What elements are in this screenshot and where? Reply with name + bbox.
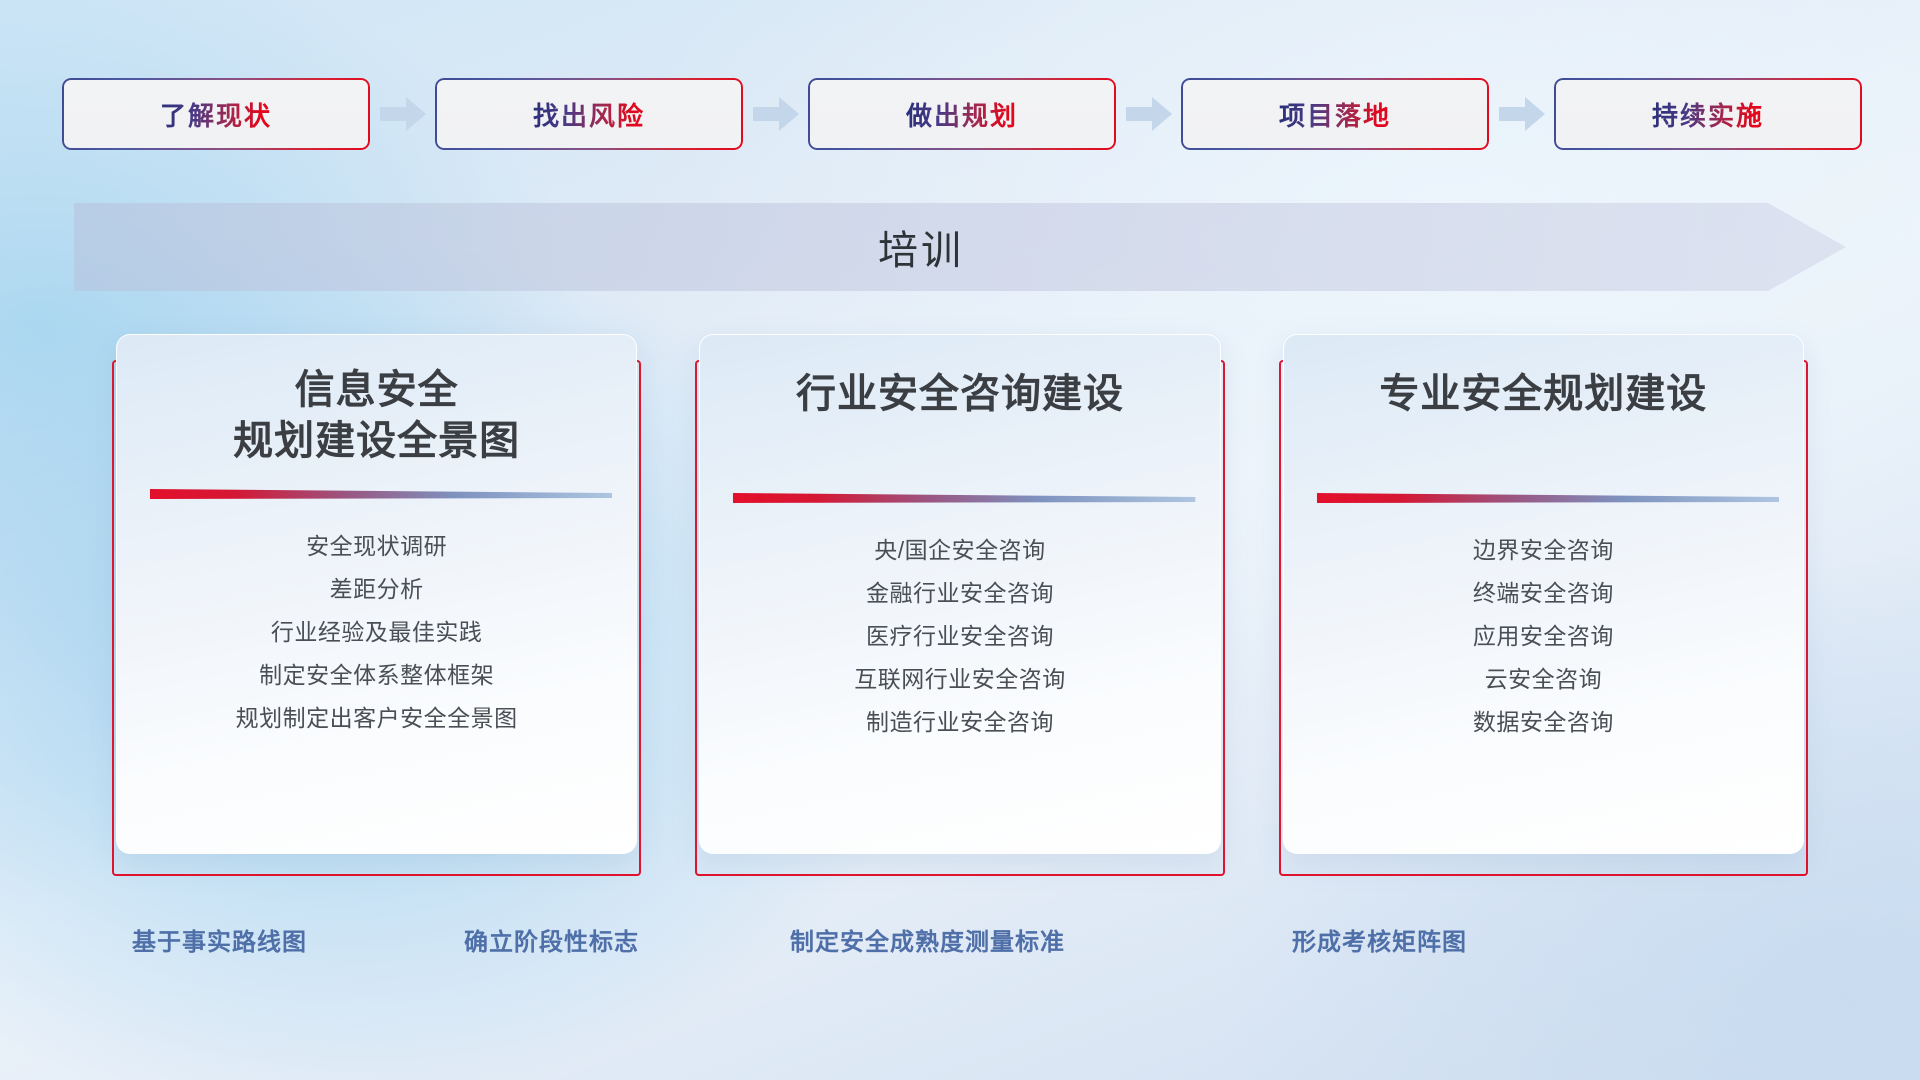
flow-step-4[interactable]: 项目落地 <box>1181 78 1489 150</box>
list-item: 行业经验及最佳实践 <box>141 611 612 654</box>
list-item: 规划制定出客户安全全景图 <box>141 697 612 740</box>
card-3[interactable]: 专业安全规划建设 <box>1277 334 1810 876</box>
flow-step-label: 持续实施 <box>1652 96 1764 133</box>
footer-label-3: 制定安全成熟度测量标准 <box>790 922 1065 957</box>
card-body: 专业安全规划建设 <box>1283 334 1804 854</box>
list-item: 应用安全咨询 <box>1308 615 1779 658</box>
process-flow-row: 了解现状 找出风险 做出规划 项目落地 <box>62 78 1862 150</box>
slide-canvas: 了解现状 找出风险 做出规划 项目落地 <box>0 0 1920 1080</box>
flow-step-label: 找出风险 <box>533 96 645 133</box>
list-item: 金融行业安全咨询 <box>724 572 1195 615</box>
card-title-line: 专业安全规划建设 <box>1308 369 1779 420</box>
card-title: 信息安全 规划建设全景图 <box>141 365 612 469</box>
training-banner: 培训 <box>74 203 1846 291</box>
card-2[interactable]: 行业安全咨询建设 <box>693 334 1226 876</box>
card-body: 信息安全 规划建设全景图 <box>116 334 637 854</box>
card-title: 行业安全咨询建设 <box>724 369 1195 473</box>
flow-step-5[interactable]: 持续实施 <box>1554 78 1862 150</box>
list-item: 终端安全咨询 <box>1308 572 1779 615</box>
list-item: 医疗行业安全咨询 <box>724 615 1195 658</box>
arrow-right-icon <box>370 95 435 133</box>
flow-step-2[interactable]: 找出风险 <box>435 78 743 150</box>
card-divider-rule <box>1308 489 1779 507</box>
arrow-right-icon <box>743 95 808 133</box>
card-item-list: 边界安全咨询 终端安全咨询 应用安全咨询 云安全咨询 数据安全咨询 <box>1308 529 1779 744</box>
list-item: 制造行业安全咨询 <box>724 701 1195 744</box>
flow-step-3[interactable]: 做出规划 <box>808 78 1116 150</box>
card-item-list: 安全现状调研 差距分析 行业经验及最佳实践 制定安全体系整体框架 规划制定出客户… <box>141 525 612 740</box>
card-body: 行业安全咨询建设 <box>699 334 1220 854</box>
list-item: 制定安全体系整体框架 <box>141 654 612 697</box>
flow-step-label: 做出规划 <box>906 96 1018 133</box>
cards-row: 信息安全 规划建设全景图 <box>110 334 1810 876</box>
list-item: 互联网行业安全咨询 <box>724 658 1195 701</box>
list-item: 央/国企安全咨询 <box>724 529 1195 572</box>
list-item: 边界安全咨询 <box>1308 529 1779 572</box>
card-title-line: 信息安全 <box>141 365 612 416</box>
card-divider-rule <box>724 489 1195 507</box>
banner-title: 培训 <box>74 203 1846 291</box>
list-item: 云安全咨询 <box>1308 658 1779 701</box>
footer-label-1: 基于事实路线图 <box>132 922 307 957</box>
card-divider-rule <box>141 485 612 503</box>
list-item: 差距分析 <box>141 568 612 611</box>
list-item: 安全现状调研 <box>141 525 612 568</box>
list-item: 数据安全咨询 <box>1308 701 1779 744</box>
card-title-line: 规划建设全景图 <box>141 416 612 467</box>
flow-step-label: 了解现状 <box>160 96 272 133</box>
card-title-line: 行业安全咨询建设 <box>724 369 1195 420</box>
card-item-list: 央/国企安全咨询 金融行业安全咨询 医疗行业安全咨询 互联网行业安全咨询 制造行… <box>724 529 1195 744</box>
arrow-right-icon <box>1116 95 1181 133</box>
footer-label-2: 确立阶段性标志 <box>464 922 639 957</box>
flow-step-1[interactable]: 了解现状 <box>62 78 370 150</box>
footer-label-4: 形成考核矩阵图 <box>1292 922 1467 957</box>
arrow-right-icon <box>1489 95 1554 133</box>
card-1[interactable]: 信息安全 规划建设全景图 <box>110 334 643 876</box>
flow-step-label: 项目落地 <box>1279 96 1391 133</box>
card-title: 专业安全规划建设 <box>1308 369 1779 473</box>
